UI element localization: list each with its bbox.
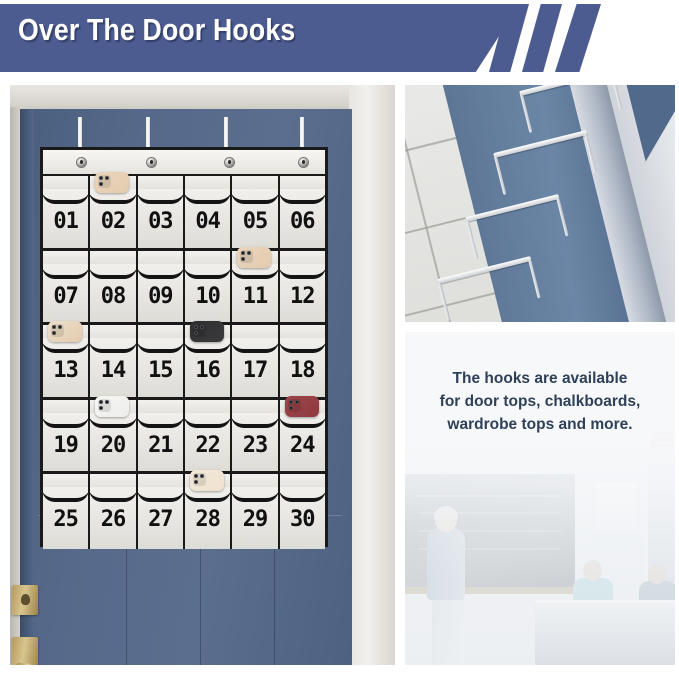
pocket-number-label: 04 — [185, 209, 230, 234]
pocket-30[interactable]: 30 — [280, 474, 325, 549]
banner-stripe-3 — [555, 4, 601, 72]
pocket-number-label: 05 — [232, 209, 277, 234]
pocket-mouth — [90, 264, 135, 275]
phone-in-pocket-16[interactable] — [190, 321, 224, 342]
page-title: Over The Door Hooks — [18, 12, 295, 48]
pocket-rows: 0102030405060708091011121314151617181920… — [43, 176, 325, 549]
phone-in-pocket-13[interactable] — [48, 321, 82, 342]
pocket-mouth — [90, 338, 135, 349]
pocket-back-panel — [280, 251, 325, 264]
pocket-chart: 0102030405060708091011121314151617181920… — [40, 147, 328, 547]
pocket-number-label: 15 — [138, 358, 183, 383]
pocket-back-panel — [90, 474, 135, 487]
camera-lens — [99, 182, 103, 186]
camera-lens — [58, 325, 62, 329]
pocket-number-label: 28 — [185, 507, 230, 532]
pocket-number-label: 01 — [43, 209, 88, 234]
pocket-number-label: 06 — [280, 209, 325, 234]
pocket-mouth — [138, 413, 183, 424]
classroom-caption-photo: The hooks are availablefor door tops, ch… — [405, 332, 675, 665]
pocket-mouth — [232, 487, 277, 498]
door-handle-plate — [12, 637, 38, 665]
hanging-strap-2 — [146, 117, 150, 147]
hanging-strap-4 — [300, 117, 304, 147]
camera-lens — [99, 176, 103, 180]
pocket-number-label: 03 — [138, 209, 183, 234]
pocket-row: 010203040506 — [43, 176, 325, 251]
pocket-back-panel — [43, 474, 88, 487]
pocket-20[interactable]: 20 — [90, 400, 137, 472]
pocket-back-panel — [138, 176, 183, 189]
phone-in-pocket-20[interactable] — [95, 396, 129, 417]
pocket-mouth — [185, 189, 230, 200]
phone-camera-module — [193, 473, 206, 486]
pocket-23[interactable]: 23 — [232, 400, 279, 472]
pocket-mouth — [43, 189, 88, 200]
pocket-number-label: 17 — [232, 358, 277, 383]
pocket-back-panel — [232, 474, 277, 487]
pocket-09[interactable]: 09 — [138, 251, 185, 323]
pocket-08[interactable]: 08 — [90, 251, 137, 323]
grommet-1 — [77, 158, 86, 167]
door-frame-right — [349, 85, 395, 665]
door-lock — [12, 585, 38, 615]
camera-lens — [247, 251, 251, 255]
pocket-mouth — [43, 487, 88, 498]
pocket-number-label: 23 — [232, 433, 277, 458]
pocket-mouth — [280, 189, 325, 200]
pocket-01[interactable]: 01 — [43, 176, 90, 248]
pocket-row: 070809101112 — [43, 251, 325, 326]
pocket-25[interactable]: 25 — [43, 474, 90, 549]
phone-camera-module — [98, 399, 111, 412]
pocket-number-label: 14 — [90, 358, 135, 383]
pocket-12[interactable]: 12 — [280, 251, 325, 323]
pocket-number-label: 25 — [43, 507, 88, 532]
phone-camera-module — [98, 175, 111, 188]
pocket-28[interactable]: 28 — [185, 474, 232, 549]
pocket-mouth — [280, 264, 325, 275]
hanging-strap-3 — [224, 117, 228, 147]
pocket-number-label: 26 — [90, 507, 135, 532]
phone-in-pocket-24[interactable] — [285, 396, 319, 417]
pocket-mouth — [232, 413, 277, 424]
phone-camera-module — [193, 324, 206, 337]
banner-stripe-2 — [522, 4, 562, 72]
grommet-2 — [147, 158, 156, 167]
pocket-number-label: 11 — [232, 284, 277, 309]
pocket-number-label: 19 — [43, 433, 88, 458]
pocket-number-label: 30 — [280, 507, 325, 532]
phone-in-pocket-11[interactable] — [237, 247, 271, 268]
pocket-number-label: 21 — [138, 433, 183, 458]
camera-lens — [241, 251, 245, 255]
pocket-number-label: 18 — [280, 358, 325, 383]
grommet-3 — [225, 158, 234, 167]
pocket-19[interactable]: 19 — [43, 400, 90, 472]
pocket-22[interactable]: 22 — [185, 400, 232, 472]
pocket-number-label: 27 — [138, 507, 183, 532]
pocket-mouth — [90, 487, 135, 498]
pocket-24[interactable]: 24 — [280, 400, 325, 472]
pocket-02[interactable]: 02 — [90, 176, 137, 248]
pocket-back-panel — [232, 176, 277, 189]
pocket-row-cells: 192021222324 — [43, 400, 325, 472]
pocket-mouth — [43, 413, 88, 424]
pocket-17[interactable]: 17 — [232, 325, 279, 397]
pocket-number-label: 08 — [90, 284, 135, 309]
door-stile-3 — [274, 539, 275, 665]
pocket-row-cells: 010203040506 — [43, 176, 325, 248]
pocket-03[interactable]: 03 — [138, 176, 185, 248]
pocket-mouth — [232, 189, 277, 200]
pocket-15[interactable]: 15 — [138, 325, 185, 397]
pocket-mouth — [138, 264, 183, 275]
camera-lens — [200, 325, 204, 329]
pocket-number-label: 20 — [90, 433, 135, 458]
camera-lens — [295, 400, 299, 404]
camera-lens — [105, 176, 109, 180]
pocket-18[interactable]: 18 — [280, 325, 325, 397]
pocket-row: 131415161718 — [43, 325, 325, 400]
pocket-mouth — [232, 338, 277, 349]
pocket-mouth — [280, 338, 325, 349]
phone-camera-module — [240, 250, 253, 263]
door-stile-1 — [126, 539, 127, 665]
hook-bar — [519, 85, 613, 96]
main-product-photo: 0102030405060708091011121314151617181920… — [10, 85, 395, 665]
camera-lens — [194, 480, 198, 484]
camera-lens — [194, 325, 198, 329]
pocket-number-label: 09 — [138, 284, 183, 309]
pocket-back-panel — [280, 474, 325, 487]
pocket-back-panel — [185, 176, 230, 189]
grommet-4 — [299, 158, 308, 167]
pocket-14[interactable]: 14 — [90, 325, 137, 397]
pocket-back-panel — [232, 325, 277, 338]
pocket-number-label: 16 — [185, 358, 230, 383]
pocket-number-label: 10 — [185, 284, 230, 309]
hanging-strap-1 — [78, 117, 82, 147]
pocket-06[interactable]: 06 — [280, 176, 325, 248]
pocket-number-label: 02 — [90, 209, 135, 234]
pocket-back-panel — [280, 325, 325, 338]
pocket-row-cells: 070809101112 — [43, 251, 325, 323]
pocket-21[interactable]: 21 — [138, 400, 185, 472]
camera-lens — [289, 400, 293, 404]
caption-line: wardrobe tops and more. — [413, 414, 667, 437]
camera-lens — [200, 474, 204, 478]
camera-lens — [194, 331, 198, 335]
pocket-back-panel — [138, 251, 183, 264]
pocket-mouth — [138, 189, 183, 200]
pocket-back-panel — [90, 325, 135, 338]
pocket-number-label: 12 — [280, 284, 325, 309]
camera-lens — [105, 400, 109, 404]
pocket-mouth — [138, 338, 183, 349]
pocket-number-label: 22 — [185, 433, 230, 458]
phone-in-pocket-28[interactable] — [190, 470, 224, 491]
caption-line: for door tops, chalkboards, — [413, 391, 667, 414]
pocket-29[interactable]: 29 — [232, 474, 279, 549]
phone-in-pocket-02[interactable] — [95, 172, 129, 193]
pocket-number-label: 24 — [280, 433, 325, 458]
pocket-mouth — [43, 264, 88, 275]
pocket-back-panel — [185, 251, 230, 264]
camera-lens — [52, 331, 56, 335]
pocket-10[interactable]: 10 — [185, 251, 232, 323]
pocket-row-cells: 131415161718 — [43, 325, 325, 397]
camera-lens — [52, 325, 56, 329]
pocket-back-panel — [138, 400, 183, 413]
phone-camera-module — [288, 399, 301, 412]
pocket-04[interactable]: 04 — [185, 176, 232, 248]
pocket-back-panel — [138, 325, 183, 338]
camera-lens — [289, 406, 293, 410]
pocket-back-panel — [90, 251, 135, 264]
chart-header-strip — [43, 150, 325, 176]
pocket-11[interactable]: 11 — [232, 251, 279, 323]
pocket-07[interactable]: 07 — [43, 251, 90, 323]
pocket-back-panel — [43, 176, 88, 189]
pocket-back-panel — [43, 400, 88, 413]
pocket-05[interactable]: 05 — [232, 176, 279, 248]
pocket-number-label: 29 — [232, 507, 277, 532]
hooks-detail-photo — [405, 85, 675, 322]
pocket-16[interactable]: 16 — [185, 325, 232, 397]
product-infographic: Over The Door Hooks — [0, 0, 679, 675]
pocket-13[interactable]: 13 — [43, 325, 90, 397]
pocket-row: 192021222324 — [43, 400, 325, 475]
camera-lens — [194, 474, 198, 478]
camera-lens — [99, 406, 103, 410]
feature-caption: The hooks are availablefor door tops, ch… — [413, 368, 667, 437]
pocket-back-panel — [280, 176, 325, 189]
pocket-mouth — [280, 487, 325, 498]
phone-camera-module — [51, 324, 64, 337]
camera-lens — [241, 257, 245, 261]
pocket-row: 252627282930 — [43, 474, 325, 549]
pocket-back-panel — [138, 474, 183, 487]
pocket-back-panel — [43, 251, 88, 264]
pocket-back-panel — [232, 400, 277, 413]
pocket-mouth — [185, 413, 230, 424]
camera-lens — [99, 400, 103, 404]
pocket-row-cells: 252627282930 — [43, 474, 325, 549]
door-stile-2 — [200, 539, 201, 665]
caption-line: The hooks are available — [413, 368, 667, 391]
pocket-number-label: 07 — [43, 284, 88, 309]
header-banner: Over The Door Hooks — [0, 0, 679, 76]
pocket-number-label: 13 — [43, 358, 88, 383]
pocket-26[interactable]: 26 — [90, 474, 137, 549]
pocket-mouth — [138, 487, 183, 498]
pocket-27[interactable]: 27 — [138, 474, 185, 549]
door-edge-shadow — [20, 109, 34, 665]
pocket-back-panel — [185, 400, 230, 413]
pocket-mouth — [185, 264, 230, 275]
